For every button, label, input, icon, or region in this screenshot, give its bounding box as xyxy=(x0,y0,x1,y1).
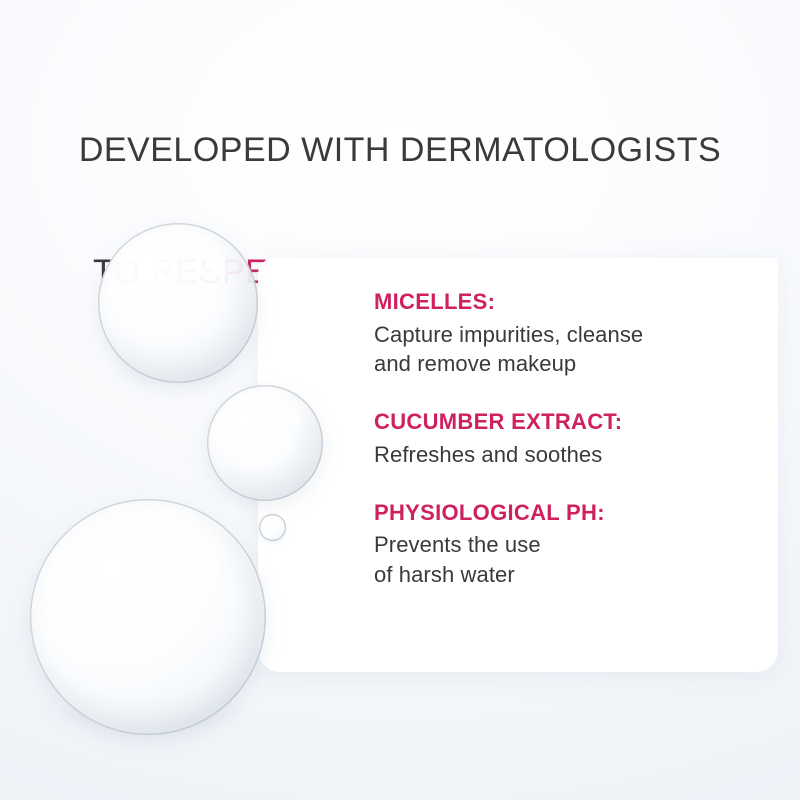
water-droplet-large-icon xyxy=(30,499,266,735)
benefit-description-micelles: Capture impurities, cleanse and remove m… xyxy=(374,320,764,379)
product-benefits-graphic: DEVELOPED WITH DERMATOLOGISTS TO RESPECT… xyxy=(0,0,800,800)
water-droplet-medium-icon xyxy=(98,223,258,383)
benefit-title-micelles: MICELLES: xyxy=(374,288,764,316)
benefit-item-physiological-ph: PHYSIOLOGICAL PH: Prevents the use of ha… xyxy=(374,499,764,589)
benefit-item-micelles: MICELLES: Capture impurities, cleanse an… xyxy=(374,288,764,378)
benefit-title-physiological-ph: PHYSIOLOGICAL PH: xyxy=(374,499,764,527)
water-droplet-small-icon xyxy=(207,385,323,501)
benefits-list: MICELLES: Capture impurities, cleanse an… xyxy=(374,288,764,589)
headline-line-1: DEVELOPED WITH DERMATOLOGISTS xyxy=(0,130,800,171)
benefit-item-cucumber-extract: CUCUMBER EXTRACT: Refreshes and soothes xyxy=(374,408,764,469)
benefit-description-physiological-ph: Prevents the use of harsh water xyxy=(374,530,764,589)
water-droplet-tiny-icon xyxy=(259,514,286,541)
benefit-title-cucumber-extract: CUCUMBER EXTRACT: xyxy=(374,408,764,436)
benefit-description-cucumber-extract: Refreshes and soothes xyxy=(374,440,764,469)
